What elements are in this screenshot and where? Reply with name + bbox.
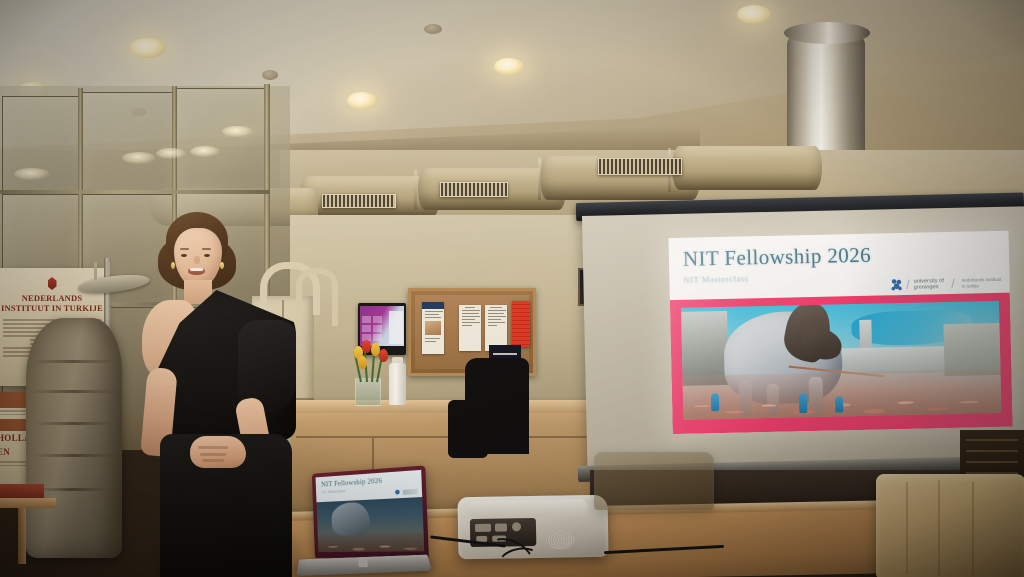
slide-logos: / university of groningen / nederlands i… <box>890 276 1002 291</box>
laptop-artwork-horse <box>331 502 370 537</box>
monitor-tile <box>373 316 382 323</box>
light-reflection <box>190 146 220 157</box>
duct-vent-grille <box>598 158 682 175</box>
presenter-nose <box>194 256 200 264</box>
glass-mullion <box>0 190 270 194</box>
glass-pane <box>82 92 176 194</box>
nit-crest-icon <box>48 277 57 290</box>
projector-vent-icon <box>546 529 574 549</box>
presenter-teeth <box>190 268 203 271</box>
monitor-tile <box>362 325 371 332</box>
projection-screen: NIT Fellowship 2026 NIT Masterclass / un… <box>582 206 1024 474</box>
downlight-icon <box>494 58 524 75</box>
presenter-hands <box>190 436 246 468</box>
groningen-mark-icon <box>890 278 902 291</box>
hvac-duct <box>672 146 822 190</box>
duct-vent-grille <box>440 182 508 197</box>
tulip-flower <box>379 349 388 362</box>
presenter <box>108 212 308 577</box>
groningen-logo-line1: university of <box>914 278 944 285</box>
logo-wordmark <box>403 488 418 494</box>
laptop-slide-logos <box>395 488 418 495</box>
smoke-detector-icon <box>262 70 278 80</box>
presentation-slide: NIT Fellowship 2026 NIT Masterclass / un… <box>669 231 1013 434</box>
projector-port <box>512 522 521 531</box>
notice-poster-left <box>422 302 444 354</box>
artwork-figure-blue <box>711 393 719 411</box>
projector-port <box>475 524 491 532</box>
duct-seam <box>538 158 541 200</box>
nit-logo-line1: nederlands instituut <box>962 277 1002 283</box>
glass-pane <box>176 88 270 192</box>
column-cap <box>784 22 870 44</box>
monitor-tile <box>362 316 371 323</box>
projector-port <box>495 523 507 531</box>
institute-sign-line2: INSTITUUT IN TURKIJE <box>1 303 103 313</box>
red-banner <box>512 301 530 347</box>
light-reflection <box>14 168 50 180</box>
downlight-icon <box>130 38 166 58</box>
monitor-side-panel <box>389 311 403 344</box>
presenter-eyebrow <box>202 248 211 250</box>
laptop[interactable]: NIT Fellowship 2026 NIT Masterclass <box>294 468 430 577</box>
groningen-mark-icon <box>395 489 400 495</box>
downlight-icon <box>347 92 377 109</box>
conference-chair[interactable] <box>594 452 714 510</box>
tulip-flower <box>358 356 367 369</box>
logo-divider-icon: / <box>951 277 955 290</box>
duct-vent-grille <box>322 194 396 208</box>
reception-desk-top <box>288 400 596 413</box>
windows-logo-icon <box>358 558 367 567</box>
slide-artwork <box>681 301 1001 420</box>
book-stack <box>0 484 44 498</box>
light-reflection <box>156 148 186 159</box>
groningen-logo-line2: groningen <box>914 284 944 291</box>
light-reflection <box>122 152 156 164</box>
slide-accent-band <box>670 293 1013 434</box>
conference-chair[interactable] <box>876 474 1024 577</box>
presenter-eye <box>204 254 210 257</box>
downlight-icon <box>737 5 771 24</box>
nit-logo-line2: in turkije <box>962 282 1002 288</box>
laptop-artwork-crowd <box>318 533 425 553</box>
presenter-eyebrow <box>180 248 189 250</box>
presenter-eye <box>181 254 187 257</box>
earring-icon <box>171 262 175 269</box>
institute-sign-line1: NEDERLANDS <box>1 293 103 303</box>
artwork-figure-blue <box>799 393 807 413</box>
monitor-tile <box>373 334 382 341</box>
light-reflection <box>222 126 252 137</box>
duct-seam <box>414 170 417 210</box>
desk-panel-seam <box>296 436 588 438</box>
tulip-flower <box>362 340 371 353</box>
laptop-screen[interactable]: NIT Fellowship 2026 NIT Masterclass <box>316 470 425 552</box>
notice-center <box>459 305 481 351</box>
desk-equipment <box>448 400 488 458</box>
slide-title: NIT Fellowship 2026 <box>683 240 997 271</box>
laptop-slide-artwork <box>317 497 425 552</box>
hand-sanitizer-dispenser <box>389 363 406 405</box>
logo-university-of-groningen: / university of groningen <box>890 277 944 291</box>
smoke-detector-icon <box>424 24 442 34</box>
monitor-tile <box>373 325 382 332</box>
artwork-figure-blue <box>835 396 843 412</box>
glass-pane <box>2 96 82 194</box>
side-table-leg <box>18 508 26 564</box>
side-table <box>0 498 56 508</box>
slide-header: NIT Fellowship 2026 NIT Masterclass / un… <box>669 231 1010 300</box>
nit-logo-text: nederlands instituut in turkije <box>962 277 1002 289</box>
presentation-room-photo: NEDERLANDS INSTITUUT IN TURKIJE HOLLANDA… <box>0 0 1024 577</box>
projector-top-panel <box>468 499 588 518</box>
logo-divider-icon: / <box>906 278 910 291</box>
earring-icon <box>220 262 224 269</box>
laptop-lid: NIT Fellowship 2026 NIT Masterclass <box>312 465 429 557</box>
groningen-logo-text: university of groningen <box>914 278 945 291</box>
